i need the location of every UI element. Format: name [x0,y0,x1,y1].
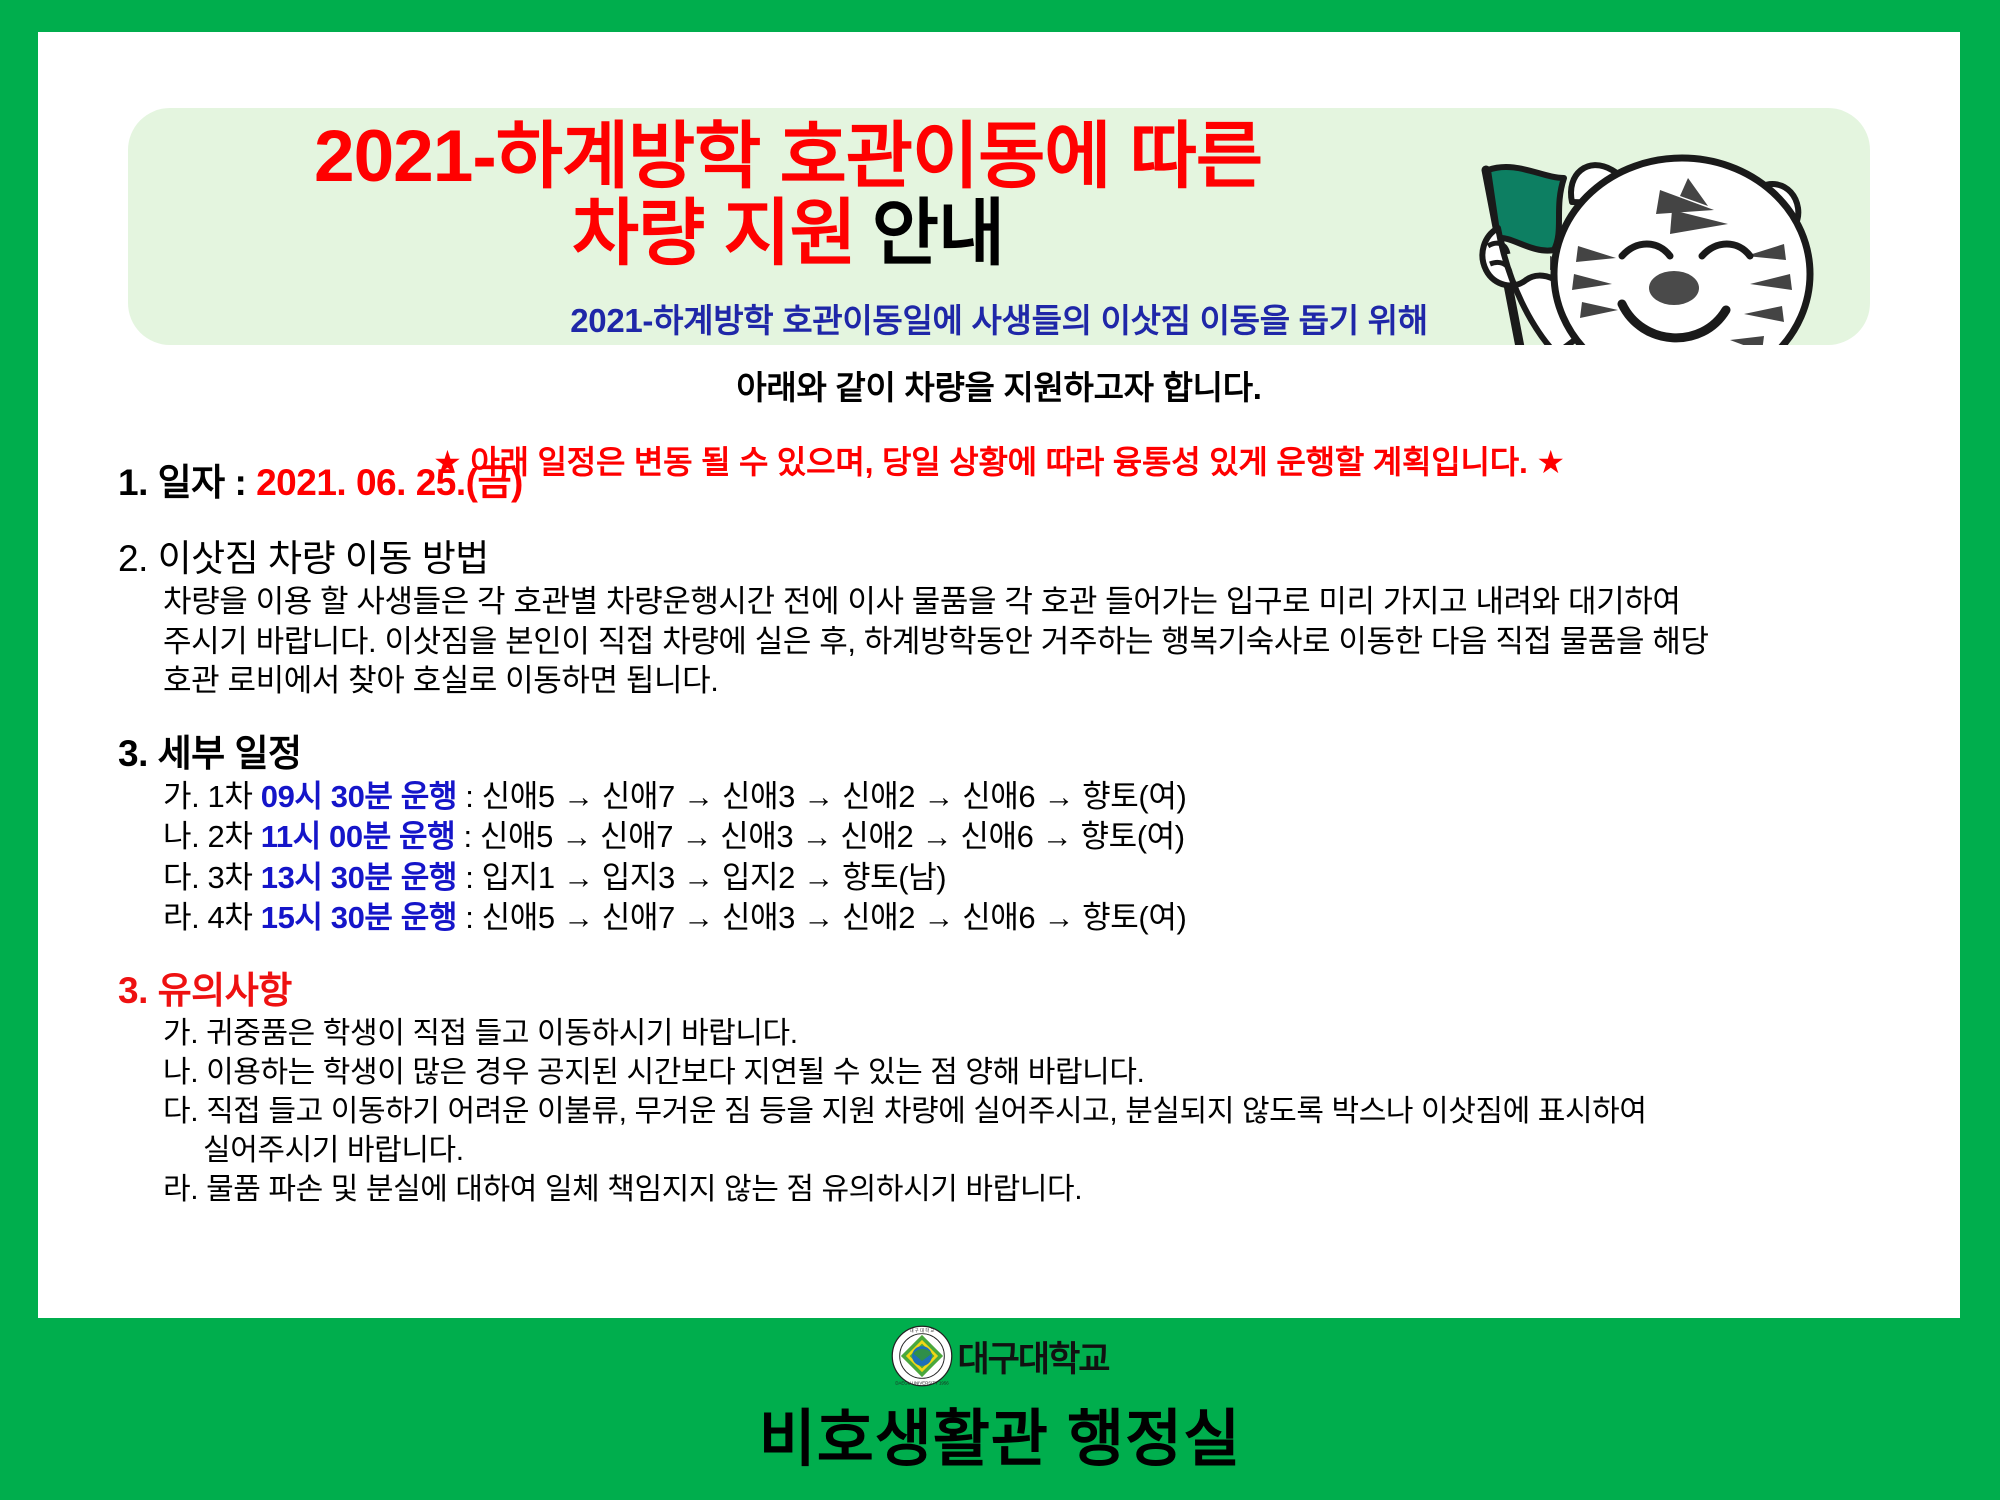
notice-paper: 2021-하계방학 호관이동에 따른 차량 지원안내 [38,32,1960,1318]
schedule-run-row: 다. 3차 13시 30분 운행 : 입지1 → 입지3 → 입지2 → 향토(… [163,858,1948,898]
schedule-run-row: 라. 4차 15시 30분 운행 : 신애5 → 신애7 → 신애3 → 신애2… [163,898,1948,938]
schedule-run-row: 나. 2차 11시 00분 운행 : 신애5 → 신애7 → 신애3 → 신애2… [163,817,1948,857]
run-route: : 신애5 → 신애7 → 신애3 → 신애2 → 신애6 → 향토(여) [457,779,1186,814]
title-text-group: 2021-하계방학 호관이동에 따른 차량 지원안내 [128,118,1448,273]
svg-text:대 구 대 학 교: 대 구 대 학 교 [910,1327,935,1334]
section-method-body: 차량을 이용 할 사생들은 각 호관별 차량운행시간 전에 이사 물품을 각 호… [163,582,1948,701]
run-prefix: 라. 4차 [163,900,261,935]
section-date-value: 2021. 06. 25.(금) [256,462,523,503]
daegu-university-emblem-icon: 대 구 대 학 교 DAEGU UNIVERSITY 1956 [891,1325,953,1387]
section-date-label: 1. 일자 : [118,462,256,503]
run-prefix: 나. 2차 [163,819,261,854]
university-name: 대구대학교 [957,1331,1108,1382]
footer-logo-row: 대 구 대 학 교 DAEGU UNIVERSITY 1956 대구대학교 [0,1326,2000,1386]
method-body-line-1: 차량을 이용 할 사생들은 각 호관별 차량운행시간 전에 이사 물품을 각 호… [163,582,1948,622]
run-time: 13시 30분 운행 [261,860,457,895]
intro-line-1: 2021-하계방학 호관이동일에 사생들의 이삿짐 이동을 돕기 위해 [38,294,1960,342]
run-time: 11시 00분 운행 [261,819,456,854]
notice-item: 나. 이용하는 학생이 많은 경우 공지된 시간보다 지연될 수 있는 점 양해… [163,1053,1948,1092]
title-line-1: 2021-하계방학 호관이동에 따른 [128,118,1448,195]
schedule-run-row: 가. 1차 09시 30분 운행 : 신애5 → 신애7 → 신애3 → 신애2… [163,777,1948,817]
run-prefix: 가. 1차 [163,779,261,814]
run-time: 15시 30분 운행 [261,900,457,935]
notice-item-continuation: 실어주시기 바랍니다. [203,1131,1948,1170]
section-date-heading: 1. 일자 : 2021. 06. 25.(금) [118,452,1948,506]
run-time: 09시 30분 운행 [261,779,457,814]
section-method-heading: 2. 이삿짐 차량 이동 방법 [118,528,1948,582]
title-line-2: 차량 지원안내 [128,195,1448,272]
run-route: : 신애5 → 신애7 → 신애3 → 신애2 → 신애6 → 향토(여) [457,900,1186,935]
notice-item: 다. 직접 들고 이동하기 어려운 이불류, 무거운 짐 등을 지원 차량에 실… [163,1092,1948,1131]
section-notices-heading: 3. 유의사항 [118,960,1948,1014]
notice-item: 라. 물품 파손 및 분실에 대하여 일체 책임지지 않는 점 유의하시기 바랍… [163,1170,1948,1209]
office-name: 비호생활관 행정실 [0,1388,2000,1478]
run-prefix: 다. 3차 [163,860,261,895]
section-schedule-heading: 3. 세부 일정 [118,723,1948,777]
method-body-line-2: 주시기 바랍니다. 이삿짐을 본인이 직접 차량에 실은 후, 하계방학동안 거… [163,622,1948,662]
title-line-2-red-part: 차량 지원 [572,193,856,274]
content-body: 1. 일자 : 2021. 06. 25.(금) 2. 이삿짐 차량 이동 방법… [118,452,1948,1209]
method-body-line-3: 호관 로비에서 찾아 호실로 이동하면 됩니다. [163,661,1948,701]
svg-text:DAEGU UNIVERSITY 1956: DAEGU UNIVERSITY 1956 [896,1381,950,1386]
footer: 대 구 대 학 교 DAEGU UNIVERSITY 1956 대구대학교 비호… [0,1318,2000,1500]
run-route: : 입지1 → 입지3 → 입지2 → 향토(남) [457,860,946,895]
intro-line-2: 아래와 같이 차량을 지원하고자 합니다. [38,361,1960,409]
run-route: : 신애5 → 신애7 → 신애3 → 신애2 → 신애6 → 향토(여) [455,819,1184,854]
title-line-2-black-part: 안내 [856,193,1004,274]
notice-item: 가. 귀중품은 학생이 직접 들고 이동하시기 바랍니다. [163,1014,1948,1053]
